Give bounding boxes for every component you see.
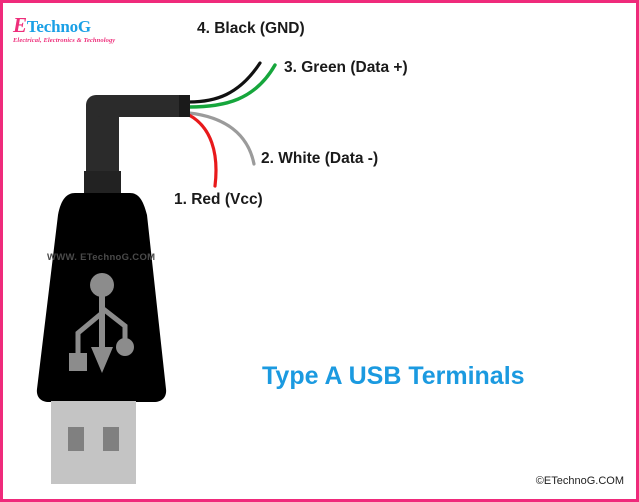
diagram-frame: ETechnoG Electrical, Electronics & Techn…: [0, 0, 639, 502]
usb-cable-horizontal: [97, 95, 189, 117]
copyright-notice: ©ETechnoG.COM: [536, 475, 624, 487]
wire-label-black: 4. Black (GND): [197, 20, 305, 38]
diagram-title: Type A USB Terminals: [262, 362, 525, 391]
wire-label-white: 2. White (Data -): [261, 150, 378, 168]
connector-watermark: WWW. ETechnoG.COM: [47, 252, 155, 263]
usb-strain-relief: [84, 171, 121, 195]
usb-shield-slot-left: [68, 427, 84, 451]
usb-cable-tip: [179, 95, 190, 117]
usb-shield-slot-right: [103, 427, 119, 451]
wire-label-green: 3. Green (Data +): [284, 59, 408, 77]
usb-metal-shield: [51, 401, 136, 484]
wire-path-red: [189, 115, 216, 186]
wire-label-red: 1. Red (Vcc): [174, 191, 263, 209]
wire-path-black: [189, 63, 260, 102]
